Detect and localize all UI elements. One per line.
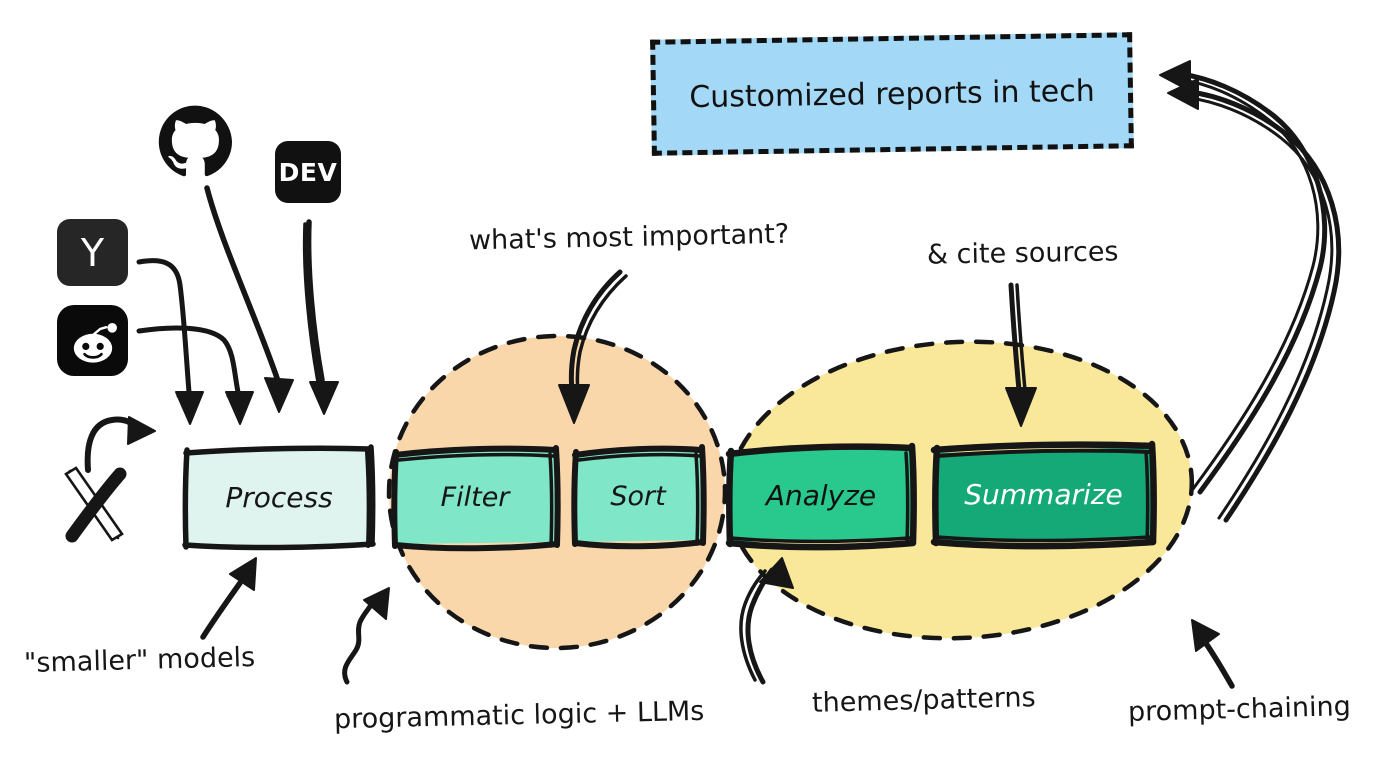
annotation-cite-sources-text: & cite sources [927,236,1119,270]
annotation-whats-most-important: what's most important? [469,219,790,257]
reddit-icon[interactable] [57,305,128,376]
devto-icon-label: DEV [279,158,338,187]
annotation-prompt-chaining-text: prompt-chaining [1128,691,1352,728]
devto-icon[interactable]: DEV [275,141,341,203]
annotation-cite-sources: & cite sources [927,236,1119,270]
ycombinator-icon-label: Y [81,231,104,275]
diagram-canvas: Process Filter [0,0,1400,782]
ycombinator-icon[interactable]: Y [57,219,128,286]
x-twitter-icon[interactable] [58,462,134,544]
github-icon[interactable] [156,104,234,182]
output-box-label: Customized reports in tech [689,73,1095,114]
annotation-programmatic-logic-text: programmatic logic + LLMs [334,696,705,735]
annotation-smaller-models-text: "smaller" models [24,642,256,679]
output-box[interactable]: Customized reports in tech [650,32,1134,156]
annotation-themes-patterns: themes/patterns [812,682,1036,719]
annotation-prompt-chaining: prompt-chaining [1128,691,1352,728]
annotation-smaller-models: "smaller" models [24,642,256,679]
labels-layer: DEV Y [0,0,1400,782]
annotation-whats-most-important-text: what's most important? [469,219,790,257]
annotation-programmatic-logic: programmatic logic + LLMs [334,696,705,735]
annotation-themes-patterns-text: themes/patterns [812,682,1036,719]
